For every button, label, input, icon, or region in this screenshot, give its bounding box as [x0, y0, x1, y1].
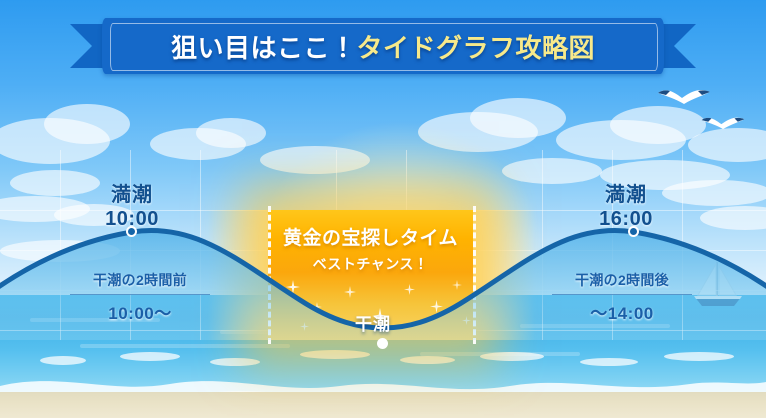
infographic-canvas: 黄金の宝探しタイム ベストチャンス！ 干潮 満潮 10:00 満潮 16:00 …: [0, 0, 766, 418]
golden-time-title: 黄金の宝探しタイム: [268, 223, 473, 250]
after-low-tide-panel: 干潮の2時間後 〜14:00: [542, 270, 702, 324]
sand-beach: [0, 392, 766, 418]
low-tide-label: 干潮: [328, 310, 418, 335]
golden-time-subtitle: ベストチャンス！: [268, 254, 473, 274]
high-tide-right-time: 16:00: [556, 208, 696, 231]
tide-chart: 黄金の宝探しタイム ベストチャンス！ 干潮 満潮 10:00 満潮 16:00 …: [0, 150, 766, 340]
banner-title-accent: タイドグラフ攻略図: [357, 28, 596, 65]
high-tide-label-right: 満潮 16:00: [556, 178, 696, 231]
seagull-icon: [656, 84, 712, 114]
seagull-icon: [700, 112, 746, 138]
divider: [70, 294, 210, 295]
low-tide-marker[interactable]: [377, 338, 388, 349]
after-low-tide-value: 〜14:00: [542, 299, 702, 324]
banner-title: 狙い目はここ！ タイドグラフ攻略図: [102, 18, 664, 74]
before-low-tide-panel: 干潮の2時間前 10:00〜: [60, 270, 220, 324]
high-tide-label-left: 満潮 10:00: [62, 178, 202, 231]
high-tide-right-title: 満潮: [556, 178, 696, 207]
high-tide-left-title: 満潮: [62, 178, 202, 207]
banner-title-primary: 狙い目はここ！: [171, 28, 357, 65]
sea-band: [80, 344, 290, 348]
title-banner: 狙い目はここ！ タイドグラフ攻略図: [70, 18, 696, 74]
after-low-tide-heading: 干潮の2時間後: [542, 270, 702, 290]
cloud-icon: [44, 104, 130, 144]
divider: [552, 294, 692, 295]
high-tide-left-time: 10:00: [62, 208, 202, 231]
before-low-tide-heading: 干潮の2時間前: [60, 270, 220, 290]
before-low-tide-value: 10:00〜: [60, 299, 220, 324]
wave-foam: [300, 350, 370, 359]
